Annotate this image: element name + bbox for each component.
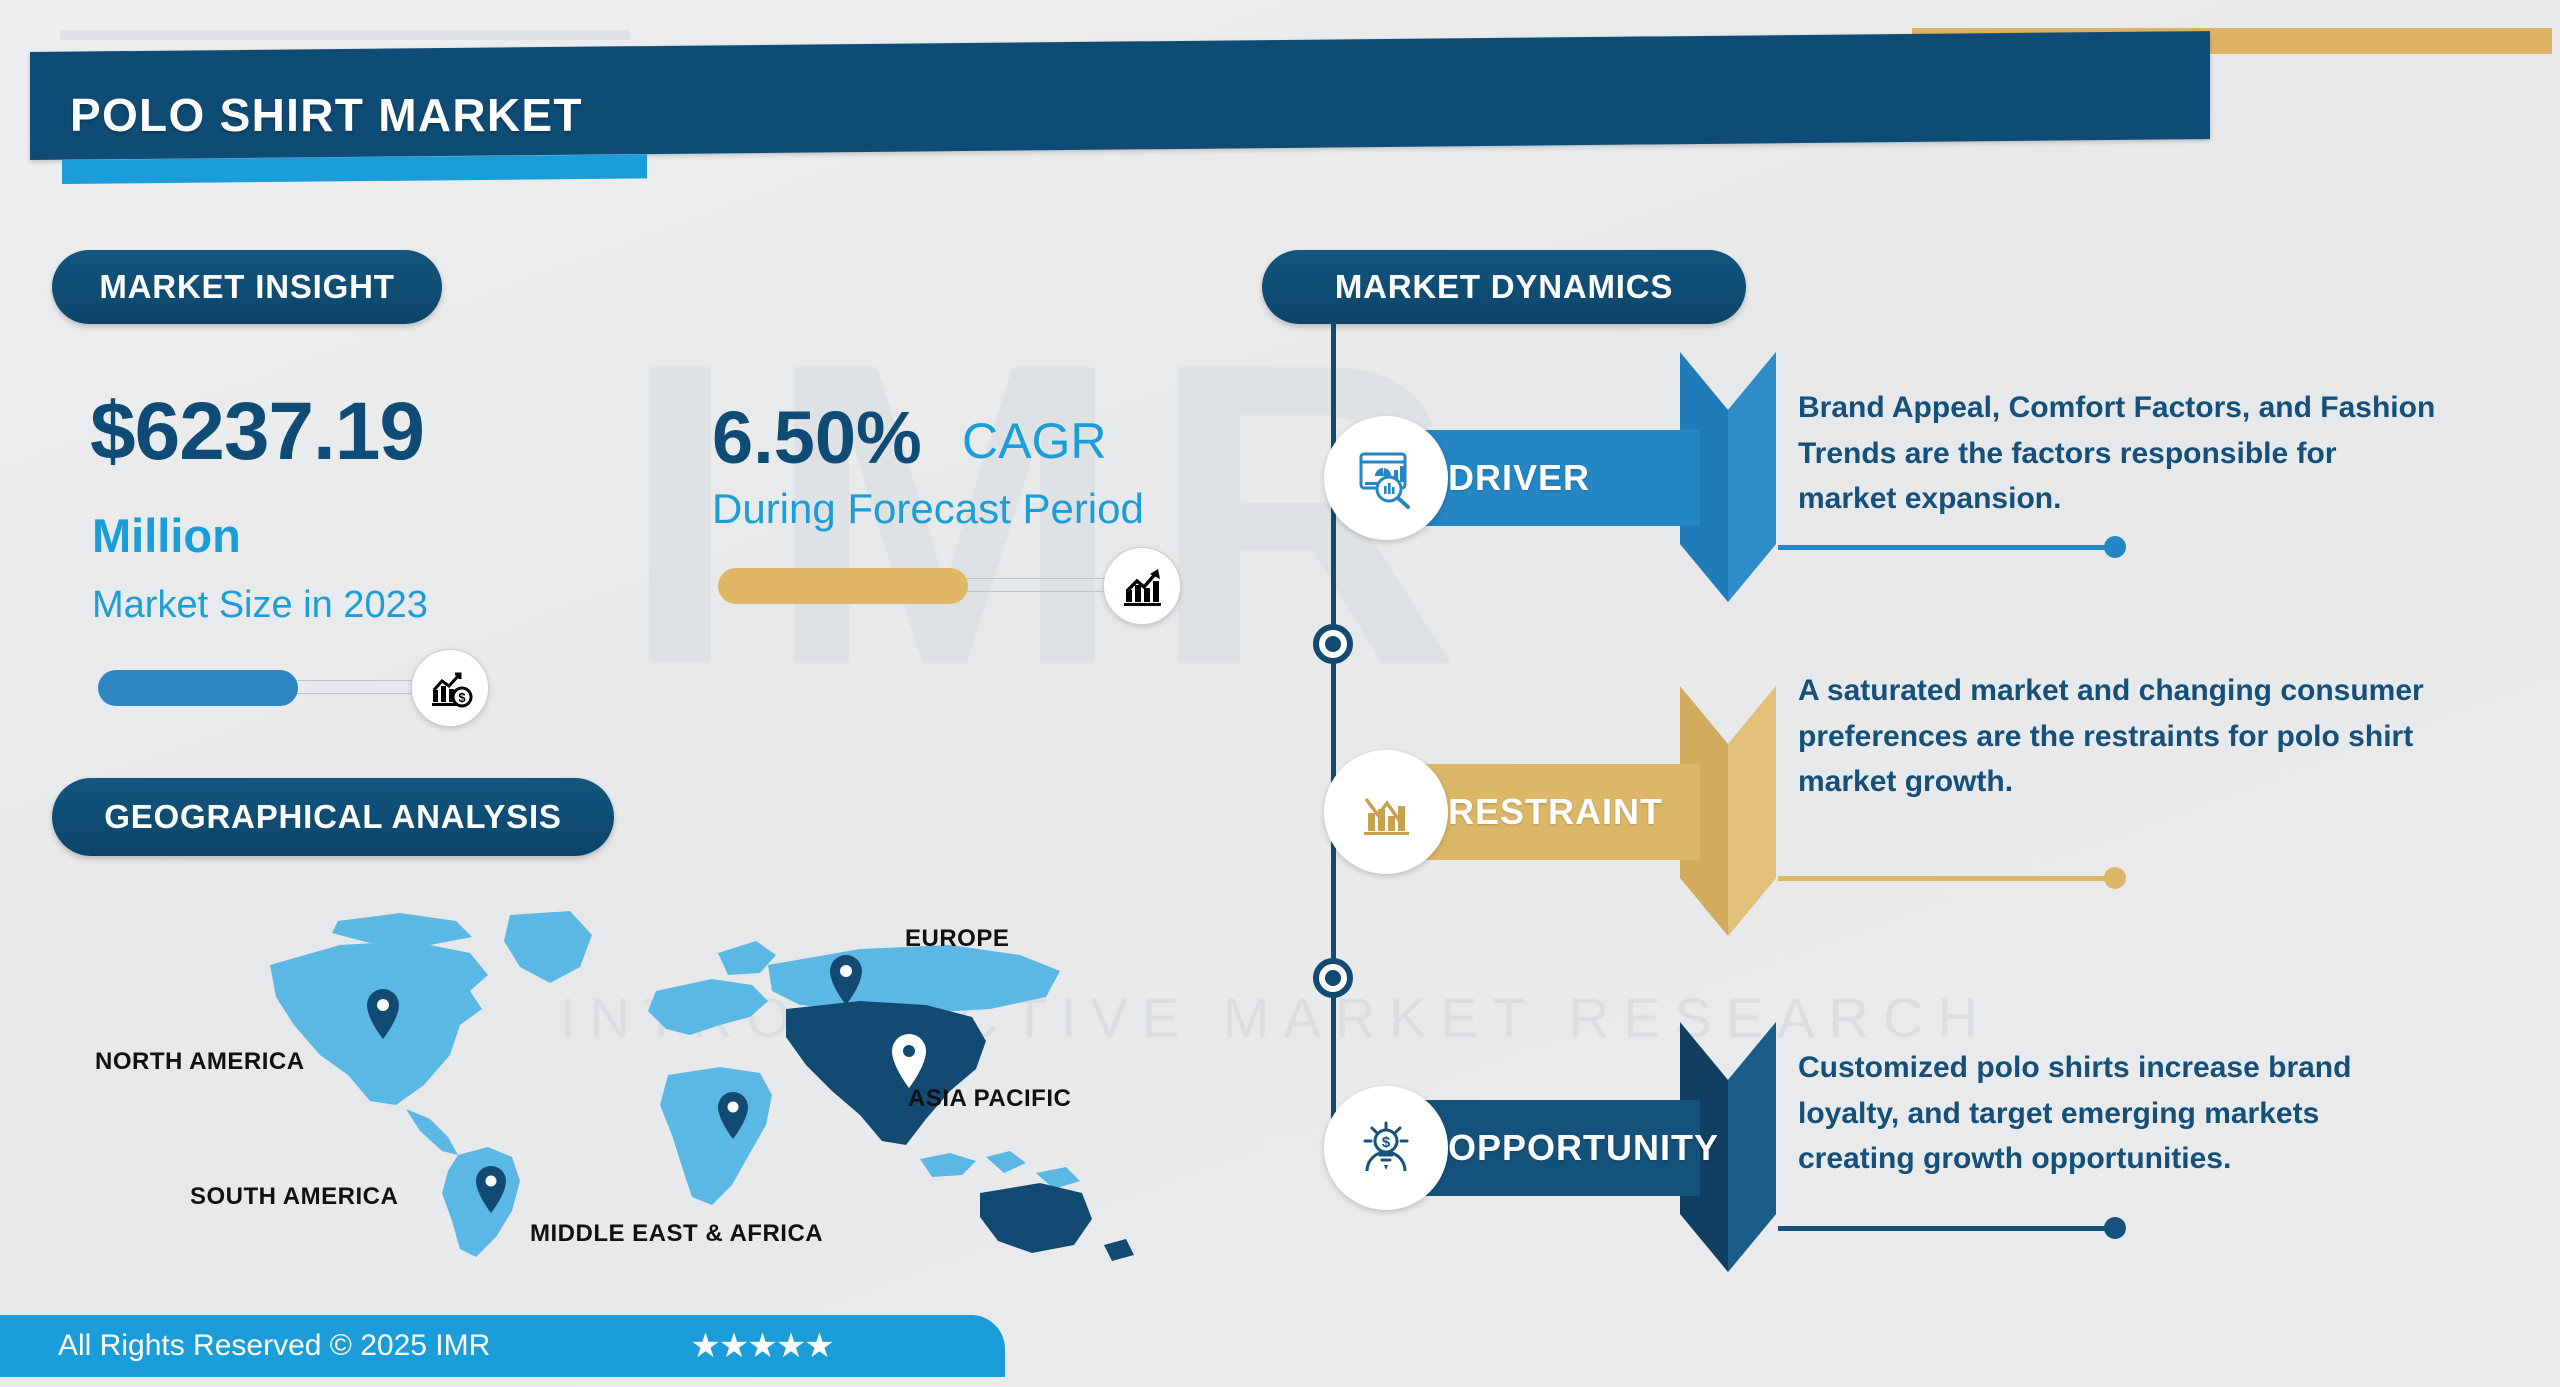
- dynamics-node-2: [1313, 958, 1353, 998]
- page-title: POLO SHIRT MARKET: [70, 88, 583, 142]
- restraint-leader-line: [1778, 876, 2114, 881]
- geographical-analysis-pill: GEOGRAPHICAL ANALYSIS: [52, 778, 614, 856]
- market-size-progress-fill: [98, 670, 298, 706]
- infographic-canvas: IMR INTROSPECTIVE MARKET RESEARCH POLO S…: [0, 0, 2560, 1387]
- market-size-progress: $: [98, 680, 418, 694]
- driver-description: Brand Appeal, Comfort Factors, and Fashi…: [1798, 385, 2438, 522]
- map-label-europe: EUROPE: [905, 925, 1009, 953]
- restraint-label: RESTRAINT: [1448, 791, 1663, 833]
- map-label-north-america: NORTH AMERICA: [95, 1048, 305, 1076]
- map-label-south-america: SOUTH AMERICA: [190, 1183, 398, 1211]
- driver-leader-dot: [2104, 536, 2126, 558]
- market-size-value: $6237.19: [90, 385, 424, 479]
- opportunity-leader-line: [1778, 1226, 2114, 1231]
- world-map: [220, 905, 1230, 1265]
- bar-chart-dollar-icon: $: [411, 649, 489, 727]
- cagr-caption: During Forecast Period: [712, 485, 1144, 533]
- cagr-progress-fill: [718, 568, 968, 604]
- svg-text:$: $: [1382, 1134, 1391, 1151]
- restraint-leader-dot: [2104, 867, 2126, 889]
- opportunity-label: OPPORTUNITY: [1448, 1127, 1719, 1169]
- growth-chart-arrow-icon: [1103, 547, 1181, 625]
- dynamics-node-1: [1313, 624, 1353, 664]
- driver-label: DRIVER: [1448, 457, 1590, 499]
- driver-leader-line: [1778, 545, 2114, 550]
- opportunity-description: Customized polo shirts increase brand lo…: [1798, 1045, 2438, 1182]
- footer-bar: All Rights Reserved © 2025 IMR ★★★★★: [0, 1315, 1005, 1377]
- opportunity-leader-dot: [2104, 1217, 2126, 1239]
- market-size-unit: Million: [92, 508, 241, 563]
- cagr-value: 6.50%: [712, 395, 922, 480]
- market-dynamics-pill: MARKET DYNAMICS: [1262, 250, 1746, 324]
- footer-copyright: All Rights Reserved © 2025 IMR: [58, 1329, 490, 1363]
- restraint-bar: RESTRAINT: [1330, 764, 1700, 860]
- lightbulb-dollar-icon: $: [1324, 1086, 1448, 1210]
- driver-bar: DRIVER: [1330, 430, 1700, 526]
- market-insight-pill: MARKET INSIGHT: [52, 250, 442, 324]
- restraint-description: A saturated market and changing consumer…: [1798, 668, 2438, 805]
- report-magnifier-icon: [1324, 416, 1448, 540]
- declining-bar-chart-icon: [1324, 750, 1448, 874]
- map-label-asia-pacific: ASIA PACIFIC: [908, 1085, 1071, 1113]
- map-label-middle-east-africa: MIDDLE EAST & AFRICA: [530, 1220, 823, 1248]
- title-ghost-line: [60, 30, 630, 40]
- market-size-caption: Market Size in 2023: [92, 584, 428, 627]
- title-underline-strip: [62, 154, 647, 184]
- cagr-progress: [718, 578, 1113, 592]
- svg-text:$: $: [458, 690, 466, 705]
- cagr-label: CAGR: [962, 412, 1106, 470]
- footer-rating-stars: ★★★★★: [690, 1326, 832, 1366]
- opportunity-bar: $ OPPORTUNITY: [1330, 1100, 1700, 1196]
